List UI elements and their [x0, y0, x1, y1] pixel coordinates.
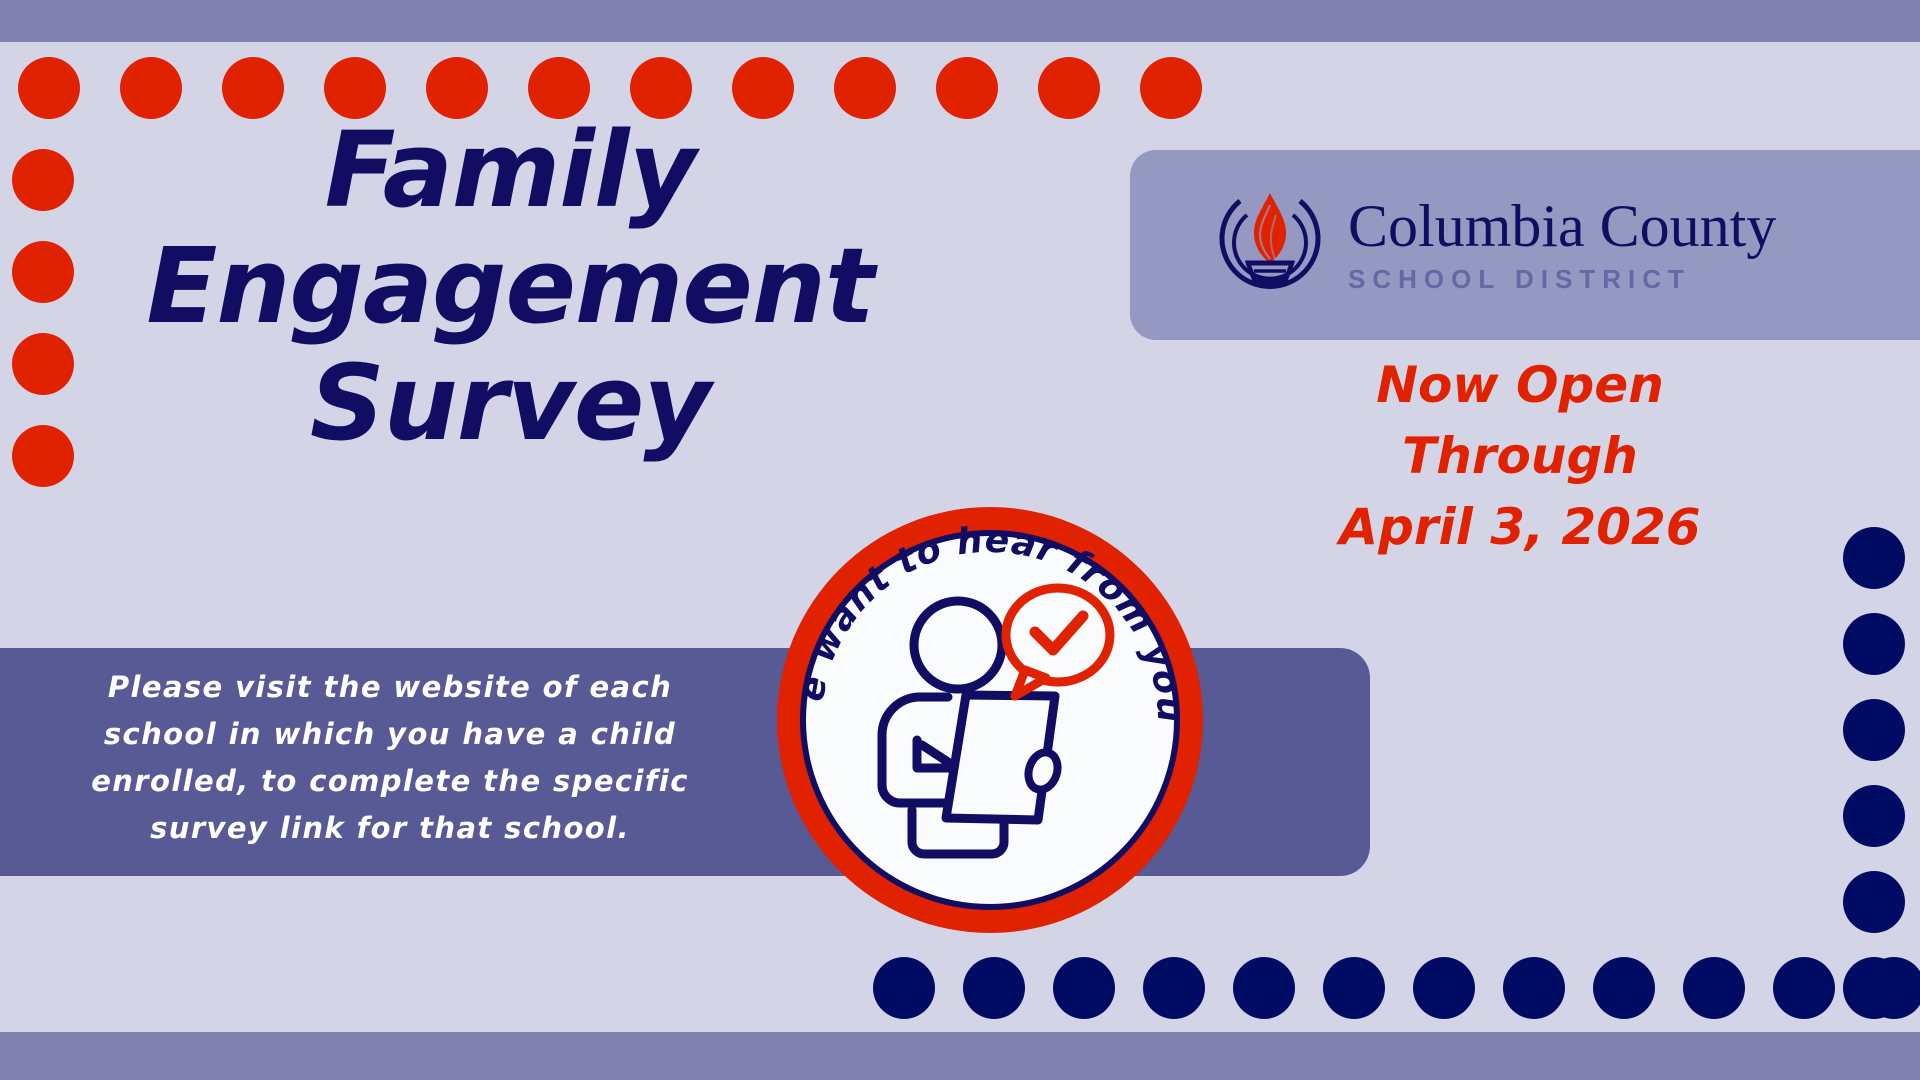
navy-dot-bottom-6 [1323, 957, 1385, 1019]
navy-dot-right-5 [1843, 871, 1905, 933]
red-dot-top-4 [324, 57, 386, 119]
red-dot-top-1 [18, 57, 80, 119]
instruction-line-4: survey link for that school. [60, 805, 720, 852]
red-dot-left-4 [12, 333, 74, 395]
navy-dot-right-3 [1843, 699, 1905, 761]
title-line-1: Family [80, 112, 940, 228]
title-line-3: Survey [80, 345, 940, 461]
red-dot-top-6 [528, 57, 590, 119]
navy-dot-bottom-12 [1863, 957, 1920, 1019]
top-band [0, 0, 1920, 42]
logo-subtitle: SCHOOL DISTRICT [1348, 264, 1776, 295]
red-dot-top-9 [834, 57, 896, 119]
navy-dot-bottom-3 [1053, 957, 1115, 1019]
red-dot-left-5 [12, 425, 74, 487]
navy-dot-right-4 [1843, 785, 1905, 847]
navy-dot-right-1 [1843, 527, 1905, 589]
logo-text-group: Columbia County SCHOOL DISTRICT [1348, 196, 1776, 295]
red-dot-top-7 [630, 57, 692, 119]
logo-name: Columbia County [1348, 196, 1776, 256]
red-dot-left-3 [12, 241, 74, 303]
navy-dot-bottom-4 [1143, 957, 1205, 1019]
instruction-line-1: Please visit the website of each [60, 664, 720, 711]
red-dot-top-12 [1140, 57, 1202, 119]
red-dot-top-11 [1038, 57, 1100, 119]
title-line-2: Engagement [80, 228, 940, 344]
date-line-2: Through [1240, 421, 1800, 492]
navy-dot-bottom-9 [1593, 957, 1655, 1019]
flyer-canvas: Family Engagement Survey Columbia County… [0, 0, 1920, 1080]
page-title: Family Engagement Survey [80, 112, 940, 461]
navy-dot-bottom-8 [1503, 957, 1565, 1019]
red-dot-top-3 [222, 57, 284, 119]
red-dot-left-2 [12, 149, 74, 211]
instruction-text: Please visit the website of each school … [60, 664, 720, 852]
district-logo-panel: Columbia County SCHOOL DISTRICT [1130, 150, 1920, 340]
navy-dot-bottom-1 [873, 957, 935, 1019]
date-line-1: Now Open [1240, 350, 1800, 421]
date-line-3: April 3, 2026 [1240, 492, 1800, 563]
bottom-band [0, 1032, 1920, 1080]
navy-dot-bottom-10 [1683, 957, 1745, 1019]
red-dot-top-5 [426, 57, 488, 119]
red-dot-top-8 [732, 57, 794, 119]
instruction-line-2: school in which you have a child [60, 711, 720, 758]
hear-from-you-badge: We want to hear from you! [770, 500, 1210, 940]
navy-dot-bottom-7 [1413, 957, 1475, 1019]
navy-dot-bottom-11 [1773, 957, 1835, 1019]
red-dot-top-10 [936, 57, 998, 119]
navy-dot-bottom-2 [963, 957, 1025, 1019]
red-dot-top-2 [120, 57, 182, 119]
navy-dot-bottom-5 [1233, 957, 1295, 1019]
torch-flame-icon [1210, 185, 1330, 305]
navy-dot-right-2 [1843, 613, 1905, 675]
instruction-line-3: enrolled, to complete the specific [60, 758, 720, 805]
availability-dates: Now Open Through April 3, 2026 [1240, 350, 1800, 563]
